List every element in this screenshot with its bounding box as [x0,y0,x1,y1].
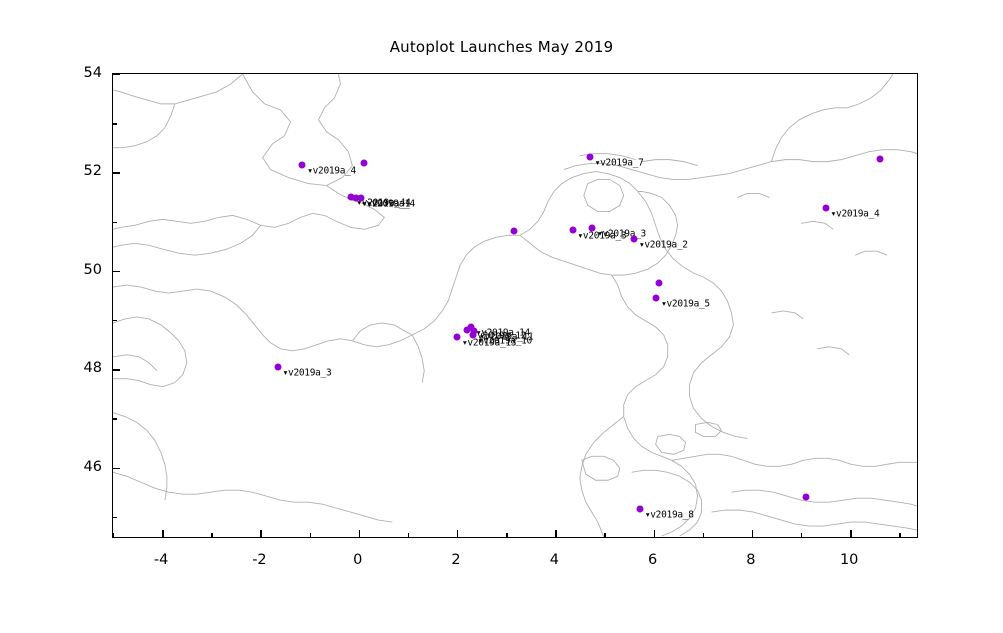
y-axis-tick [113,320,117,321]
x-axis-tick [359,530,360,537]
x-axis-tick [113,533,114,537]
x-axis-tick-label: 6 [648,552,657,568]
scatter-point [653,294,660,301]
scatter-point [274,363,281,370]
x-axis-tick [703,533,704,537]
x-axis-tick-label: 2 [451,552,460,568]
y-axis-tick [113,468,120,469]
x-axis-tick-label: 10 [840,552,858,568]
x-axis-tick-label: 4 [550,552,559,568]
x-axis-tick [260,530,261,537]
x-axis-tick [555,530,556,537]
scatter-point-label: ▾v2019a_5 [661,298,710,309]
x-axis-tick [899,533,900,537]
scatter-point [358,195,365,202]
y-axis-tick [113,369,120,370]
x-axis-tick-label: 0 [353,552,362,568]
x-axis-tick-label: -2 [252,552,266,568]
figure-canvas: Autoplot Launches May 2019 [0,0,1003,633]
x-axis-tick [162,530,163,537]
scatter-point-label: ▾v2019a_3 [597,228,646,239]
scatter-point [469,331,476,338]
y-axis-tick [113,517,117,518]
scatter-point [569,226,576,233]
scatter-point-label: ▾v2019a_4 [366,199,415,210]
scatter-point [802,494,809,501]
y-axis-tick [113,271,120,272]
scatter-point-label: ▾v2019a_7 [595,157,644,168]
x-axis-tick [654,530,655,537]
scatter-point-label: ▾v2019a_8 [645,510,694,521]
scatter-point [299,162,306,169]
plot-axes: ▾v2019a_4▾v2019a_44▾v2019a_1▾v2019a_4▾v2… [112,73,918,538]
scatter-point [636,506,643,513]
scatter-point [586,153,593,160]
y-axis-tick-label: 48 [72,360,102,376]
scatter-point-label: ▾v2019a_3 [283,367,332,378]
scatter-point-label: ▾v2019a_10 [478,335,532,346]
scatter-point [510,228,517,235]
page-title: Autoplot Launches May 2019 [0,38,1003,56]
scatter-point-label: ▾v2019a_4 [307,166,356,177]
scatter-point [360,159,367,166]
scatter-point [876,155,883,162]
scatter-point-label: ▾v2019a_4 [831,208,880,219]
x-axis-tick [604,533,605,537]
x-axis-tick-label: 8 [746,552,755,568]
x-axis-tick [850,530,851,537]
scatter-points-layer: ▾v2019a_4▾v2019a_44▾v2019a_1▾v2019a_4▾v2… [113,74,917,537]
x-axis-tick [801,533,802,537]
y-axis-tick [113,418,117,419]
y-axis-tick-label: 54 [72,65,102,81]
scatter-point [454,334,461,341]
x-axis-tick [211,533,212,537]
x-axis-tick [752,530,753,537]
x-axis-tick-label: -4 [154,552,168,568]
y-axis-tick-label: 52 [72,163,102,179]
y-axis-tick-label: 46 [72,459,102,475]
x-axis-tick [310,533,311,537]
scatter-point [630,235,637,242]
x-axis-tick [506,533,507,537]
scatter-point [822,204,829,211]
scatter-point [589,224,596,231]
x-axis-tick [408,533,409,537]
x-axis-tick [457,530,458,537]
scatter-point-label: ▾v2019a_2 [639,239,688,250]
y-axis-tick [113,123,117,124]
y-axis-tick [113,172,120,173]
y-axis-tick-label: 50 [72,262,102,278]
y-axis-tick [113,74,120,75]
y-axis-tick [113,222,117,223]
scatter-point [655,280,662,287]
